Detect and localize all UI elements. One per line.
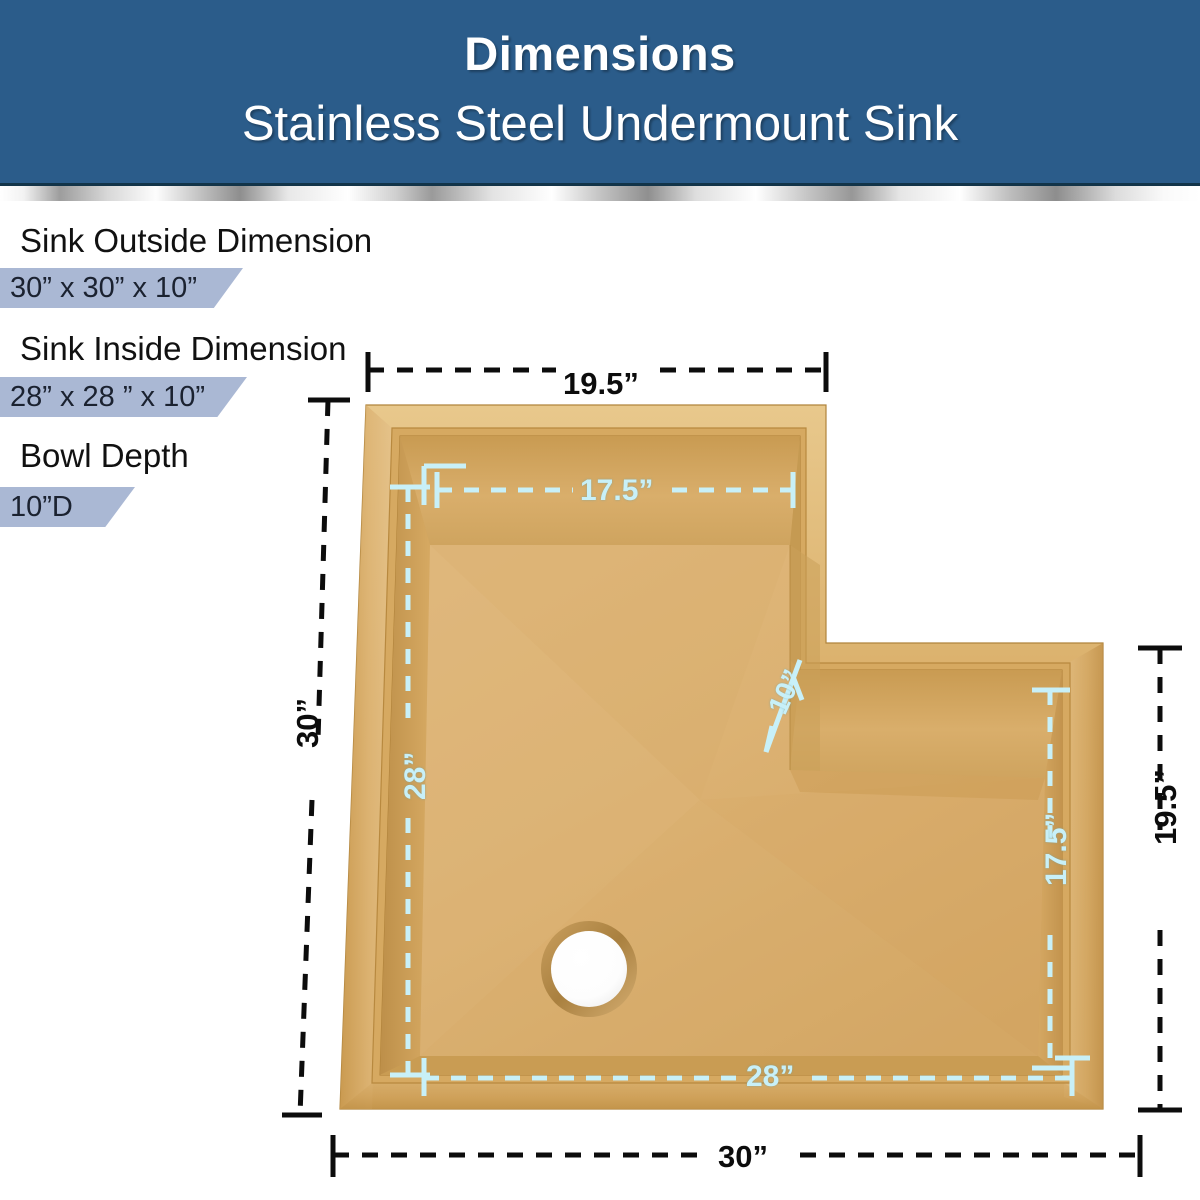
dimension-label-inner-top-width: 17.5” [580,474,653,508]
dimension-label-bottom-width: 30” [718,1139,768,1175]
sink-bowl-floor [420,545,1045,1056]
drain-hole [541,921,637,1017]
dimension-label-top-width: 19.5” [563,366,639,402]
dimension-label-inner-left-height: 28” [399,752,433,800]
dimension-label-left-height: 30” [290,698,326,748]
dimension-label-inner-bottom-width: 28” [746,1060,794,1094]
dimension-label-inner-right-height: 17.5” [1040,813,1074,886]
dimensions-page: Dimensions Stainless Steel Undermount Si… [0,0,1200,1200]
sink-illustration [0,0,1200,1200]
dimension-label-right-height: 19.5” [1148,769,1184,845]
